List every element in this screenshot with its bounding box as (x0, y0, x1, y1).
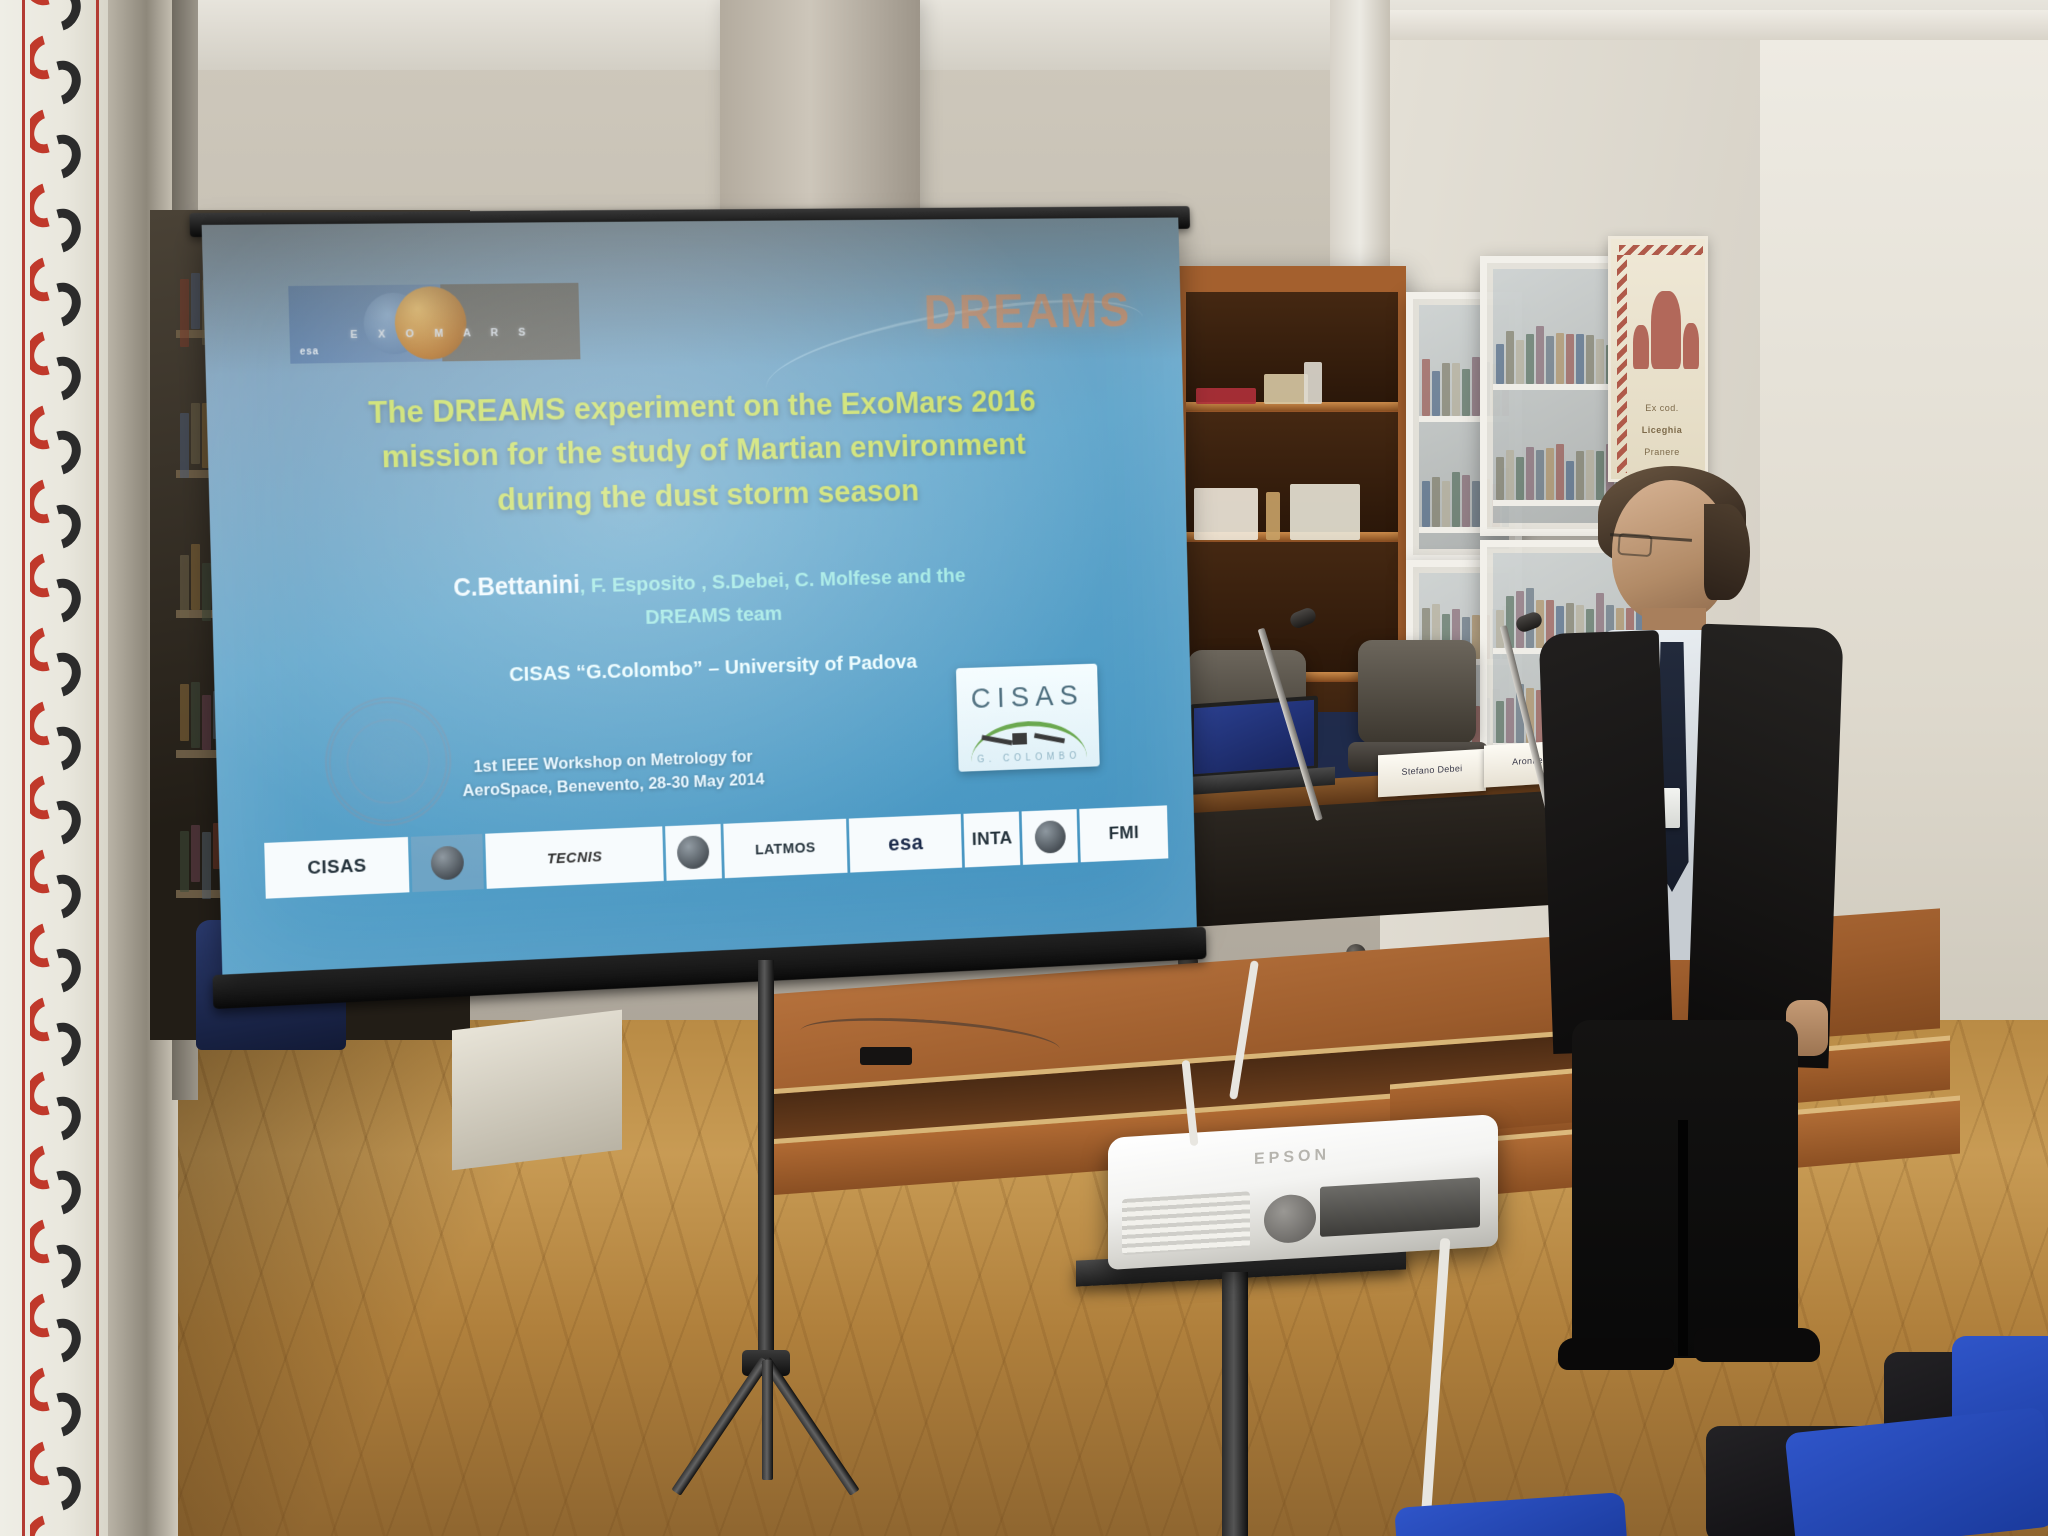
fresco-figure-small-right (1683, 323, 1699, 369)
presenter (1518, 480, 1838, 1380)
screen-tripod-column (758, 960, 774, 1370)
fresco-border-left (1617, 255, 1627, 473)
fresco-text-1: Ex cod. (1625, 403, 1699, 413)
fresco-figure-small-left (1633, 325, 1649, 369)
presentation-photo-scene: Ex cod. Liceghia Pranere Stefano Debei A… (0, 0, 2048, 1536)
floor-wedge-object (452, 1010, 622, 1171)
projected-slide: E X O M A R S esa DREAMS The DREAMS expe… (202, 218, 1197, 975)
projector-io-panel (1320, 1177, 1480, 1237)
projector-vents (1122, 1191, 1250, 1255)
left-name-card: Stefano Debei (1378, 749, 1486, 798)
fresco-border-top (1619, 245, 1703, 255)
tripod-leg-center (762, 1360, 773, 1480)
chain-ornament-band (30, 0, 88, 1536)
presenter-shoe-right (1694, 1328, 1820, 1362)
presenter-trouser-split (1678, 1120, 1688, 1356)
office-chair-right-back (1358, 640, 1476, 744)
projector-cart-post (1222, 1272, 1248, 1536)
fresco-figure-main (1651, 291, 1681, 369)
presenter-shoe-left (1558, 1338, 1674, 1370)
presenter-hair-back (1704, 504, 1750, 600)
fresco-text-3: Pranere (1625, 447, 1699, 457)
left-decorated-wall (0, 0, 110, 1536)
projection-screen: E X O M A R S esa DREAMS The DREAMS expe… (202, 218, 1197, 975)
decorative-fresco-panel: Ex cod. Liceghia Pranere (1608, 236, 1708, 482)
fresco-text-2: Liceghia (1625, 425, 1699, 435)
presenter-jacket-left (1539, 630, 1674, 1054)
